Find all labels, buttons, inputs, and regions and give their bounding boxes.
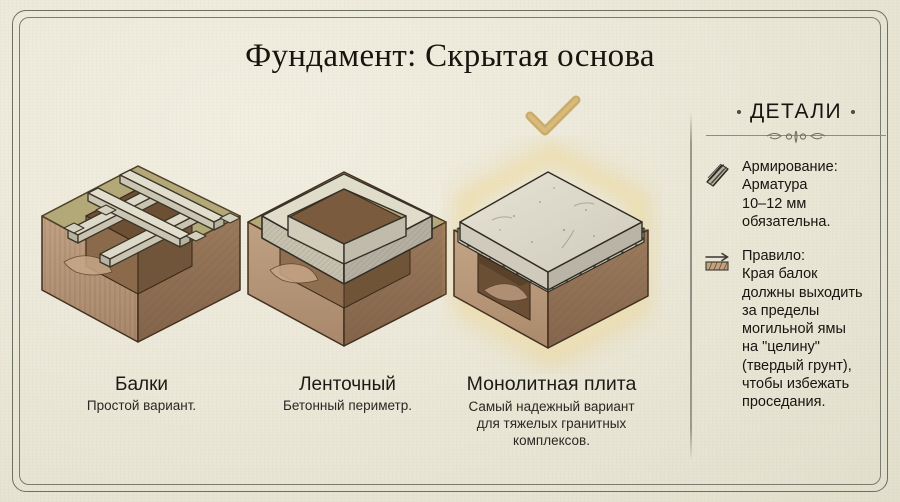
option-description-line-1: Самый надежный вариант — [438, 399, 665, 416]
details-title-text: ДЕТАЛИ — [750, 100, 842, 124]
detail-line: 10–12 мм — [742, 195, 838, 213]
option-description: Бетонный периметр. — [234, 398, 461, 415]
option-caption-beams: Балки Простой вариант. — [28, 374, 255, 415]
option-card-strip[interactable]: Ленточный Бетонный периметр. — [240, 96, 455, 466]
bullet-dot-right — [851, 110, 855, 114]
detail-line: Края балок — [742, 265, 863, 283]
detail-line: обязательна. — [742, 213, 838, 231]
recommended-badge — [445, 94, 660, 146]
detail-line: проседания. — [742, 393, 863, 411]
flourish-icon — [761, 130, 831, 144]
option-heading: Ленточный — [234, 374, 461, 395]
details-title: ДЕТАЛИ — [704, 100, 888, 124]
detail-text-rule: Правило: Края балок должны выходить за п… — [742, 247, 863, 411]
option-description: Простой вариант. — [28, 398, 255, 415]
detail-line: (твердый грунт), — [742, 357, 863, 375]
arrow-over-soil-icon — [704, 247, 734, 411]
page-title: Фундамент: Скрытая основа — [0, 38, 900, 75]
option-heading: Балки — [28, 374, 255, 395]
diagram-beams — [34, 144, 249, 369]
detail-text-rebar: Армирование: Арматура 10–12 мм обязатель… — [742, 158, 838, 231]
option-description-line-3: комплексов. — [438, 433, 665, 450]
detail-line: за пределы — [742, 302, 863, 320]
details-panel: ДЕТАЛИ — [704, 100, 888, 427]
option-caption-strip: Ленточный Бетонный периметр. — [234, 374, 461, 415]
diagram-strip — [240, 144, 455, 369]
rebar-icon — [704, 158, 734, 231]
infographic-canvas: Фундамент: Скрытая основа — [0, 0, 900, 502]
detail-line: Правило: — [742, 247, 863, 265]
detail-line: Арматура — [742, 176, 838, 194]
detail-line: могильной ямы — [742, 320, 863, 338]
detail-item-rebar: Армирование: Арматура 10–12 мм обязатель… — [704, 158, 888, 231]
detail-line: на "целину" — [742, 338, 863, 356]
detail-item-rule: Правило: Края балок должны выходить за п… — [704, 247, 888, 411]
ornamental-divider — [704, 130, 888, 144]
option-heading: Монолитная плита — [438, 374, 665, 396]
option-description-line-2: для тяжелых гранитных — [438, 416, 665, 433]
option-caption-slab: Монолитная плита Самый надежный вариант … — [438, 374, 665, 449]
vertical-divider — [690, 112, 692, 460]
options-row: Балки Простой вариант. — [28, 96, 668, 466]
detail-line: чтобы избежать — [742, 375, 863, 393]
bullet-dot-left — [737, 110, 741, 114]
option-card-slab[interactable]: Монолитная плита Самый надежный вариант … — [444, 96, 659, 466]
detail-line: должны выходить — [742, 284, 863, 302]
detail-line: Армирование: — [742, 158, 838, 176]
diagram-slab — [444, 144, 659, 369]
option-card-beams[interactable]: Балки Простой вариант. — [34, 96, 249, 466]
check-mark-icon — [524, 94, 582, 140]
